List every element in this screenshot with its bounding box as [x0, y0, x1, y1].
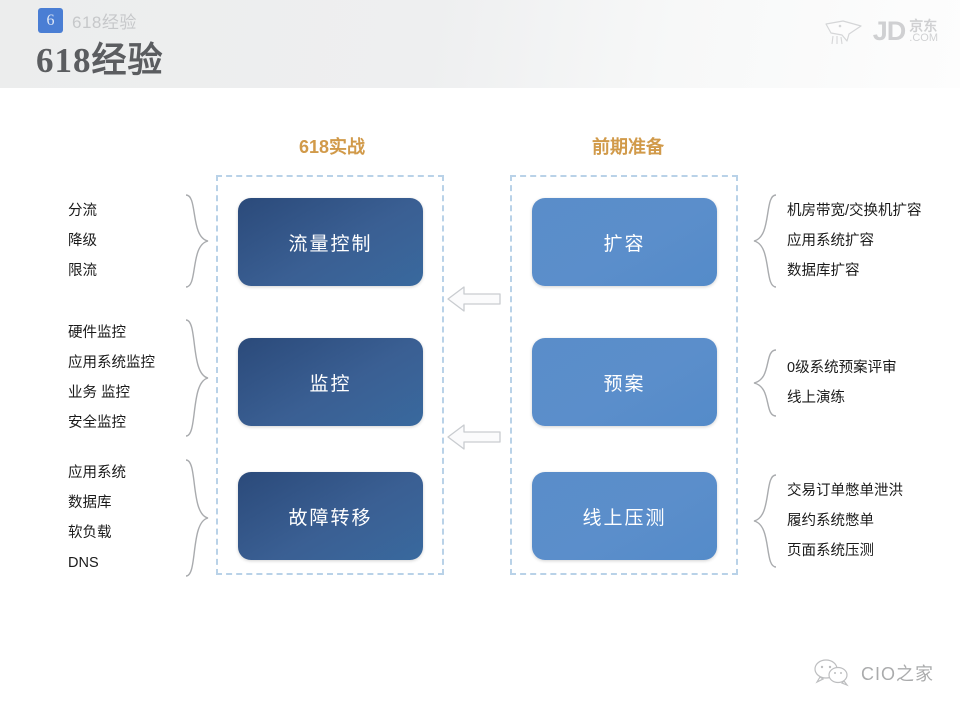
list-item: 数据库 [68, 488, 112, 518]
arrow-left-2 [446, 420, 502, 454]
label-list: 硬件监控 应用系统监控 业务 监控 安全监控 [68, 318, 176, 438]
list-item: 分流 [68, 196, 97, 226]
list-item: 线上演练 [787, 383, 845, 413]
slide-number-badge: 6 [38, 8, 63, 33]
label-group-flow-control: 分流 降级 限流 [68, 193, 210, 289]
section-title-left: 618实战 [232, 133, 432, 159]
label-list: 机房带宽/交换机扩容 应用系统扩容 数据库扩容 [787, 196, 922, 286]
process-box-stress-testing[interactable]: 线上压测 [532, 472, 717, 560]
list-item: 安全监控 [68, 408, 126, 438]
list-item: 数据库扩容 [787, 256, 860, 286]
brace-left-icon [752, 473, 778, 569]
process-box-flow-control[interactable]: 流量控制 [238, 198, 423, 286]
brace-left-icon [752, 193, 778, 289]
watermark-text: CIO之家 [861, 660, 934, 686]
list-item: 交易订单憋单泄洪 [787, 476, 903, 506]
process-box-monitoring[interactable]: 监控 [238, 338, 423, 426]
label-group-failover: 应用系统 数据库 软负载 DNS [68, 458, 210, 578]
process-box-expansion[interactable]: 扩容 [532, 198, 717, 286]
jd-logo-cn: 京东 .COM [909, 19, 938, 44]
jd-logo-cn-top: 京东 [909, 19, 938, 33]
list-item: 机房带宽/交换机扩容 [787, 196, 922, 226]
label-list: 应用系统 数据库 软负载 DNS [68, 458, 176, 578]
list-item: 软负载 [68, 518, 112, 548]
brace-right-icon [184, 193, 210, 289]
label-group-contingency: 0级系统预案评审 线上演练 [752, 348, 897, 418]
label-list: 分流 降级 限流 [68, 196, 176, 286]
list-item: 限流 [68, 256, 97, 286]
brace-left-icon [752, 348, 778, 418]
label-group-monitoring: 硬件监控 应用系统监控 业务 监控 安全监控 [68, 318, 210, 438]
list-item: 降级 [68, 226, 97, 256]
list-item: 页面系统压测 [787, 536, 874, 566]
list-item: 应用系统监控 [68, 348, 155, 378]
process-box-failover[interactable]: 故障转移 [238, 472, 423, 560]
label-group-expansion: 机房带宽/交换机扩容 应用系统扩容 数据库扩容 [752, 193, 922, 289]
label-list: 交易订单憋单泄洪 履约系统憋单 页面系统压测 [787, 476, 903, 566]
jd-logo-text: JD [873, 16, 906, 47]
list-item: 履约系统憋单 [787, 506, 874, 536]
wechat-icon [813, 658, 853, 688]
brace-right-icon [184, 318, 210, 438]
arrow-left-1 [446, 282, 502, 316]
process-box-contingency[interactable]: 预案 [532, 338, 717, 426]
list-item: 硬件监控 [68, 318, 126, 348]
section-title-right: 前期准备 [528, 133, 728, 159]
list-item: 应用系统扩容 [787, 226, 874, 256]
header-badge-row: 6 618经验 [38, 8, 137, 33]
list-item: 0级系统预案评审 [787, 353, 897, 383]
label-list: 0级系统预案评审 线上演练 [787, 353, 897, 413]
header-small-title: 618经验 [72, 8, 137, 33]
label-group-stress-testing: 交易订单憋单泄洪 履约系统憋单 页面系统压测 [752, 473, 903, 569]
page-title: 618经验 [36, 32, 164, 83]
jd-logo-cn-bottom: .COM [909, 33, 938, 44]
watermark: CIO之家 [813, 658, 934, 688]
jd-dog-mascot-icon [823, 17, 869, 47]
list-item: 应用系统 [68, 458, 126, 488]
list-item: 业务 监控 [68, 378, 130, 408]
jd-logo: JD 京东 .COM [823, 16, 938, 47]
slide-header: 6 618经验 618经验 JD 京东 .COM [0, 0, 960, 88]
brace-right-icon [184, 458, 210, 578]
list-item: DNS [68, 548, 99, 578]
